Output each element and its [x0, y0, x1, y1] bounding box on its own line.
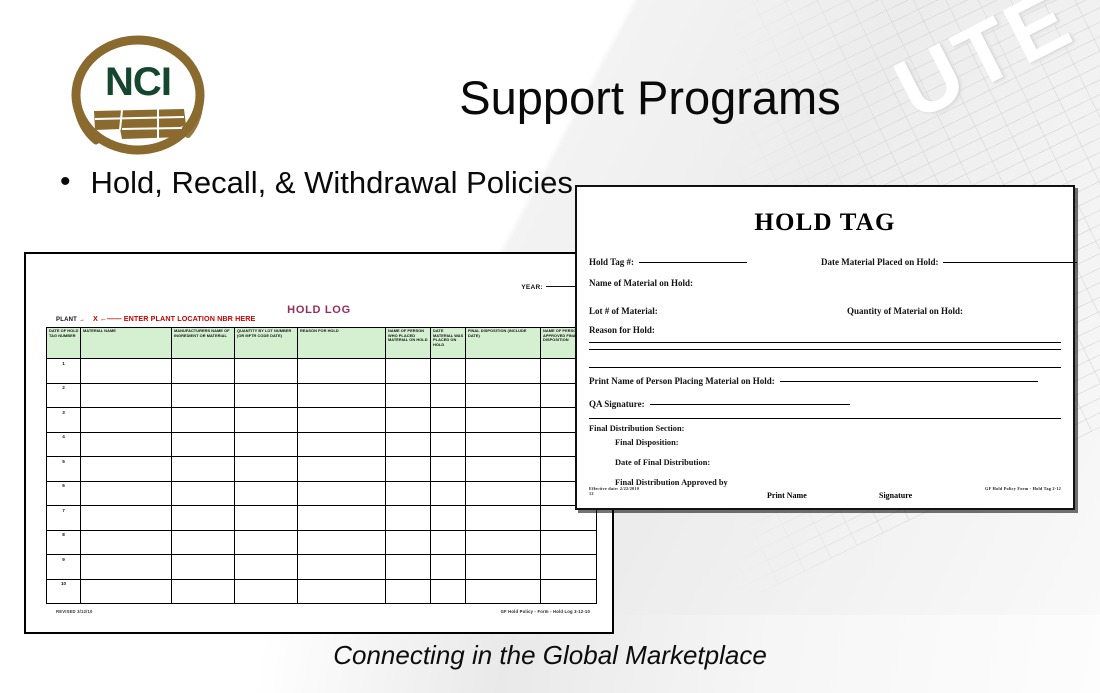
cell-manufacturer[interactable] [172, 506, 235, 531]
hold-log-plant-marker: X [93, 314, 98, 323]
hold-tag-footer-left: Effective date: 2/22/201012 [589, 486, 639, 496]
cell-manufacturer[interactable] [172, 408, 235, 433]
hold-log-plant-line: PLANT → X ←—— ENTER PLANT LOCATION NBR H… [56, 314, 255, 323]
cell-reason[interactable] [298, 457, 386, 482]
row-number: 8 [47, 530, 81, 555]
cell-date-placed[interactable] [431, 481, 466, 506]
hold-tag-date-final-distribution-label: Date of Final Distribution: [615, 458, 1061, 467]
cell-quantity-lot[interactable] [235, 408, 298, 433]
table-row[interactable]: 9 [47, 555, 597, 580]
slide-canvas: UTE NCI Support Programs • Hold, Recall,… [0, 0, 1100, 693]
hold-tag-footer: Effective date: 2/22/201012 GF Hold Poli… [589, 486, 1061, 496]
cell-person-approved[interactable] [541, 579, 597, 604]
hold-tag-row-lot-quantity: Lot # of Material: Quantity of Material … [589, 306, 1061, 316]
hold-log-table-body: 1 2 3 4 5 6 7 8 9 10 [47, 359, 597, 604]
hold-log-table: DATE OF HOLD TAG NUMBER MATERIAL NAME MA… [46, 327, 597, 604]
cell-final-disposition[interactable] [466, 555, 541, 580]
column-header-person-placed: NAME OF PERSON WHO PLACED MATERIAL ON HO… [386, 328, 431, 359]
cell-quantity-lot[interactable] [235, 457, 298, 482]
cell-date-placed[interactable] [431, 555, 466, 580]
hold-tag-form: HOLD TAG Hold Tag #: Date Material Place… [575, 185, 1075, 510]
cell-quantity-lot[interactable] [235, 383, 298, 408]
hold-tag-reason-line-2[interactable] [589, 349, 1061, 350]
cell-quantity-lot[interactable] [235, 359, 298, 384]
bullet-item-label: Hold, Recall, & Withdrawal Policies [91, 163, 573, 203]
cell-material-name[interactable] [81, 530, 172, 555]
cell-final-disposition[interactable] [466, 359, 541, 384]
hold-tag-reason-line-3[interactable] [589, 367, 1061, 368]
cell-quantity-lot[interactable] [235, 579, 298, 604]
cell-material-name[interactable] [81, 432, 172, 457]
row-number: 10 [47, 579, 81, 604]
cell-person-placed[interactable] [386, 555, 431, 580]
hold-log-form: YEAR: HOLD LOG PLANT → X ←—— ENTER PLANT… [24, 252, 614, 634]
hold-tag-row-qa-signature: QA Signature: [589, 399, 1061, 409]
nci-logo: NCI [62, 33, 214, 159]
hold-tag-qa-signature-label: QA Signature: [589, 399, 645, 409]
hold-log-footer-right: GF Hold Policy - Form - Hold Log 3-12-10 [501, 609, 590, 614]
hold-tag-row-number-date: Hold Tag #: Date Material Placed on Hold… [589, 257, 1061, 267]
cell-person-placed[interactable] [386, 383, 431, 408]
table-row[interactable]: 3 [47, 408, 597, 433]
cell-manufacturer[interactable] [172, 481, 235, 506]
cell-reason[interactable] [298, 530, 386, 555]
cell-material-name[interactable] [81, 359, 172, 384]
hold-tag-title: HOLD TAG [589, 209, 1061, 237]
hold-log-plant-label: PLANT → [56, 317, 85, 323]
svg-text:NCI: NCI [105, 60, 171, 104]
cell-manufacturer[interactable] [172, 579, 235, 604]
row-number: 7 [47, 506, 81, 531]
cell-final-disposition[interactable] [466, 457, 541, 482]
cell-reason[interactable] [298, 555, 386, 580]
cell-person-approved[interactable] [541, 530, 597, 555]
slide-tagline: Connecting in the Global Marketplace [0, 640, 1100, 671]
hold-tag-date-placed-input[interactable] [943, 262, 1077, 263]
cell-date-placed[interactable] [431, 432, 466, 457]
cell-material-name[interactable] [81, 383, 172, 408]
hold-tag-reason-line-1[interactable] [589, 342, 1061, 343]
column-header-material-name: MATERIAL NAME [81, 328, 172, 359]
cell-final-disposition[interactable] [466, 432, 541, 457]
hold-tag-print-name-input[interactable] [780, 381, 1038, 382]
cell-date-placed[interactable] [431, 457, 466, 482]
cell-date-placed[interactable] [431, 506, 466, 531]
cell-date-placed[interactable] [431, 530, 466, 555]
row-number: 9 [47, 555, 81, 580]
hold-tag-material-name-label: Name of Material on Hold: [589, 278, 1061, 288]
cell-manufacturer[interactable] [172, 457, 235, 482]
column-header-quantity-lot: QUANTITY BY LOT NUMBER (OR MFTR CODE DAT… [235, 328, 298, 359]
cell-person-placed[interactable] [386, 359, 431, 384]
cell-person-placed[interactable] [386, 432, 431, 457]
cell-date-placed[interactable] [431, 383, 466, 408]
cell-reason[interactable] [298, 359, 386, 384]
table-row[interactable]: 10 [47, 579, 597, 604]
cell-person-placed[interactable] [386, 506, 431, 531]
cell-quantity-lot[interactable] [235, 506, 298, 531]
column-header-reason-for-hold: REASON FOR HOLD [298, 328, 386, 359]
row-number: 5 [47, 457, 81, 482]
hold-tag-final-disposition-label: Final Disposition: [615, 438, 1061, 447]
hold-log-footer-left: REVISED 3/12/10 [56, 609, 93, 614]
hold-tag-number-label: Hold Tag #: [589, 257, 634, 267]
hold-tag-number-input[interactable] [639, 262, 747, 263]
cell-person-placed[interactable] [386, 408, 431, 433]
hold-tag-footer-page: 12 [589, 491, 594, 496]
cell-date-placed[interactable] [431, 359, 466, 384]
cell-date-placed[interactable] [431, 579, 466, 604]
hold-tag-row-print-name: Print Name of Person Placing Material on… [589, 376, 1061, 386]
cell-material-name[interactable] [81, 481, 172, 506]
cell-reason[interactable] [298, 579, 386, 604]
table-header-row: DATE OF HOLD TAG NUMBER MATERIAL NAME MA… [47, 328, 597, 359]
table-row[interactable]: 1 [47, 359, 597, 384]
column-header-hold-tag-number: DATE OF HOLD TAG NUMBER [47, 328, 81, 359]
hold-tag-qa-signature-input[interactable] [650, 404, 850, 405]
cell-material-name[interactable] [81, 506, 172, 531]
cell-material-name[interactable] [81, 579, 172, 604]
cell-reason[interactable] [298, 481, 386, 506]
hold-tag-footer-right: GF Hold Policy Form - Hold Tag 2-12 [985, 486, 1061, 496]
cell-person-placed[interactable] [386, 530, 431, 555]
cell-reason[interactable] [298, 432, 386, 457]
hold-tag-final-distribution-heading: Final Distribution Section: [589, 424, 1061, 433]
row-number: 4 [47, 432, 81, 457]
hold-tag-print-name-label: Print Name of Person Placing Material on… [589, 376, 775, 386]
hold-tag-effective-date: Effective date: 2/22/2010 [589, 486, 639, 491]
row-number: 2 [47, 383, 81, 408]
cell-final-disposition[interactable] [466, 481, 541, 506]
table-row[interactable]: 7 [47, 506, 597, 531]
hold-log-year-label: YEAR: [521, 284, 543, 291]
hold-log-plant-instruction: ←—— ENTER PLANT LOCATION NBR HERE [100, 314, 256, 323]
cell-reason[interactable] [298, 383, 386, 408]
hold-tag-quantity-label: Quantity of Material on Hold: [847, 306, 963, 316]
cell-person-placed[interactable] [386, 481, 431, 506]
cell-manufacturer[interactable] [172, 530, 235, 555]
cell-quantity-lot[interactable] [235, 432, 298, 457]
cell-final-disposition[interactable] [466, 408, 541, 433]
table-row[interactable]: 4 [47, 432, 597, 457]
hold-tag-section-divider [589, 418, 1061, 419]
bullet-list-item: • Hold, Recall, & Withdrawal Policies [60, 163, 580, 203]
cell-final-disposition[interactable] [466, 579, 541, 604]
cell-quantity-lot[interactable] [235, 555, 298, 580]
cell-date-placed[interactable] [431, 408, 466, 433]
column-header-manufacturer: MANUFACTURERS NAME OF INGREDIENT OR MATE… [172, 328, 235, 359]
cell-manufacturer[interactable] [172, 359, 235, 384]
cell-manufacturer[interactable] [172, 555, 235, 580]
page-title: Support Programs [300, 70, 1000, 125]
hold-tag-lot-label: Lot # of Material: [589, 306, 658, 316]
cell-material-name[interactable] [81, 457, 172, 482]
row-number: 1 [47, 359, 81, 384]
cell-material-name[interactable] [81, 408, 172, 433]
cell-material-name[interactable] [81, 555, 172, 580]
cell-reason[interactable] [298, 408, 386, 433]
hold-tag-date-placed-group: Date Material Placed on Hold: [821, 257, 1077, 267]
row-number: 3 [47, 408, 81, 433]
column-header-final-disposition: FINAL DISPOSITION (INCLUDE DATE) [466, 328, 541, 359]
cell-reason[interactable] [298, 506, 386, 531]
column-header-date-placed: DATE MATERIAL WAS PLACED ON HOLD [431, 328, 466, 359]
table-row[interactable]: 6 [47, 481, 597, 506]
cell-person-placed[interactable] [386, 579, 431, 604]
cell-person-approved[interactable] [541, 555, 597, 580]
table-row[interactable]: 2 [47, 383, 597, 408]
cell-person-placed[interactable] [386, 457, 431, 482]
hold-tag-date-placed-label: Date Material Placed on Hold: [821, 257, 938, 267]
table-row[interactable]: 8 [47, 530, 597, 555]
cell-quantity-lot[interactable] [235, 481, 298, 506]
cell-manufacturer[interactable] [172, 383, 235, 408]
cell-manufacturer[interactable] [172, 432, 235, 457]
cell-quantity-lot[interactable] [235, 530, 298, 555]
row-number: 6 [47, 481, 81, 506]
hold-tag-reason-label: Reason for Hold: [589, 325, 1061, 335]
cell-final-disposition[interactable] [466, 383, 541, 408]
bullet-marker-icon: • [60, 163, 71, 203]
table-row[interactable]: 5 [47, 457, 597, 482]
cell-final-disposition[interactable] [466, 530, 541, 555]
cell-final-disposition[interactable] [466, 506, 541, 531]
